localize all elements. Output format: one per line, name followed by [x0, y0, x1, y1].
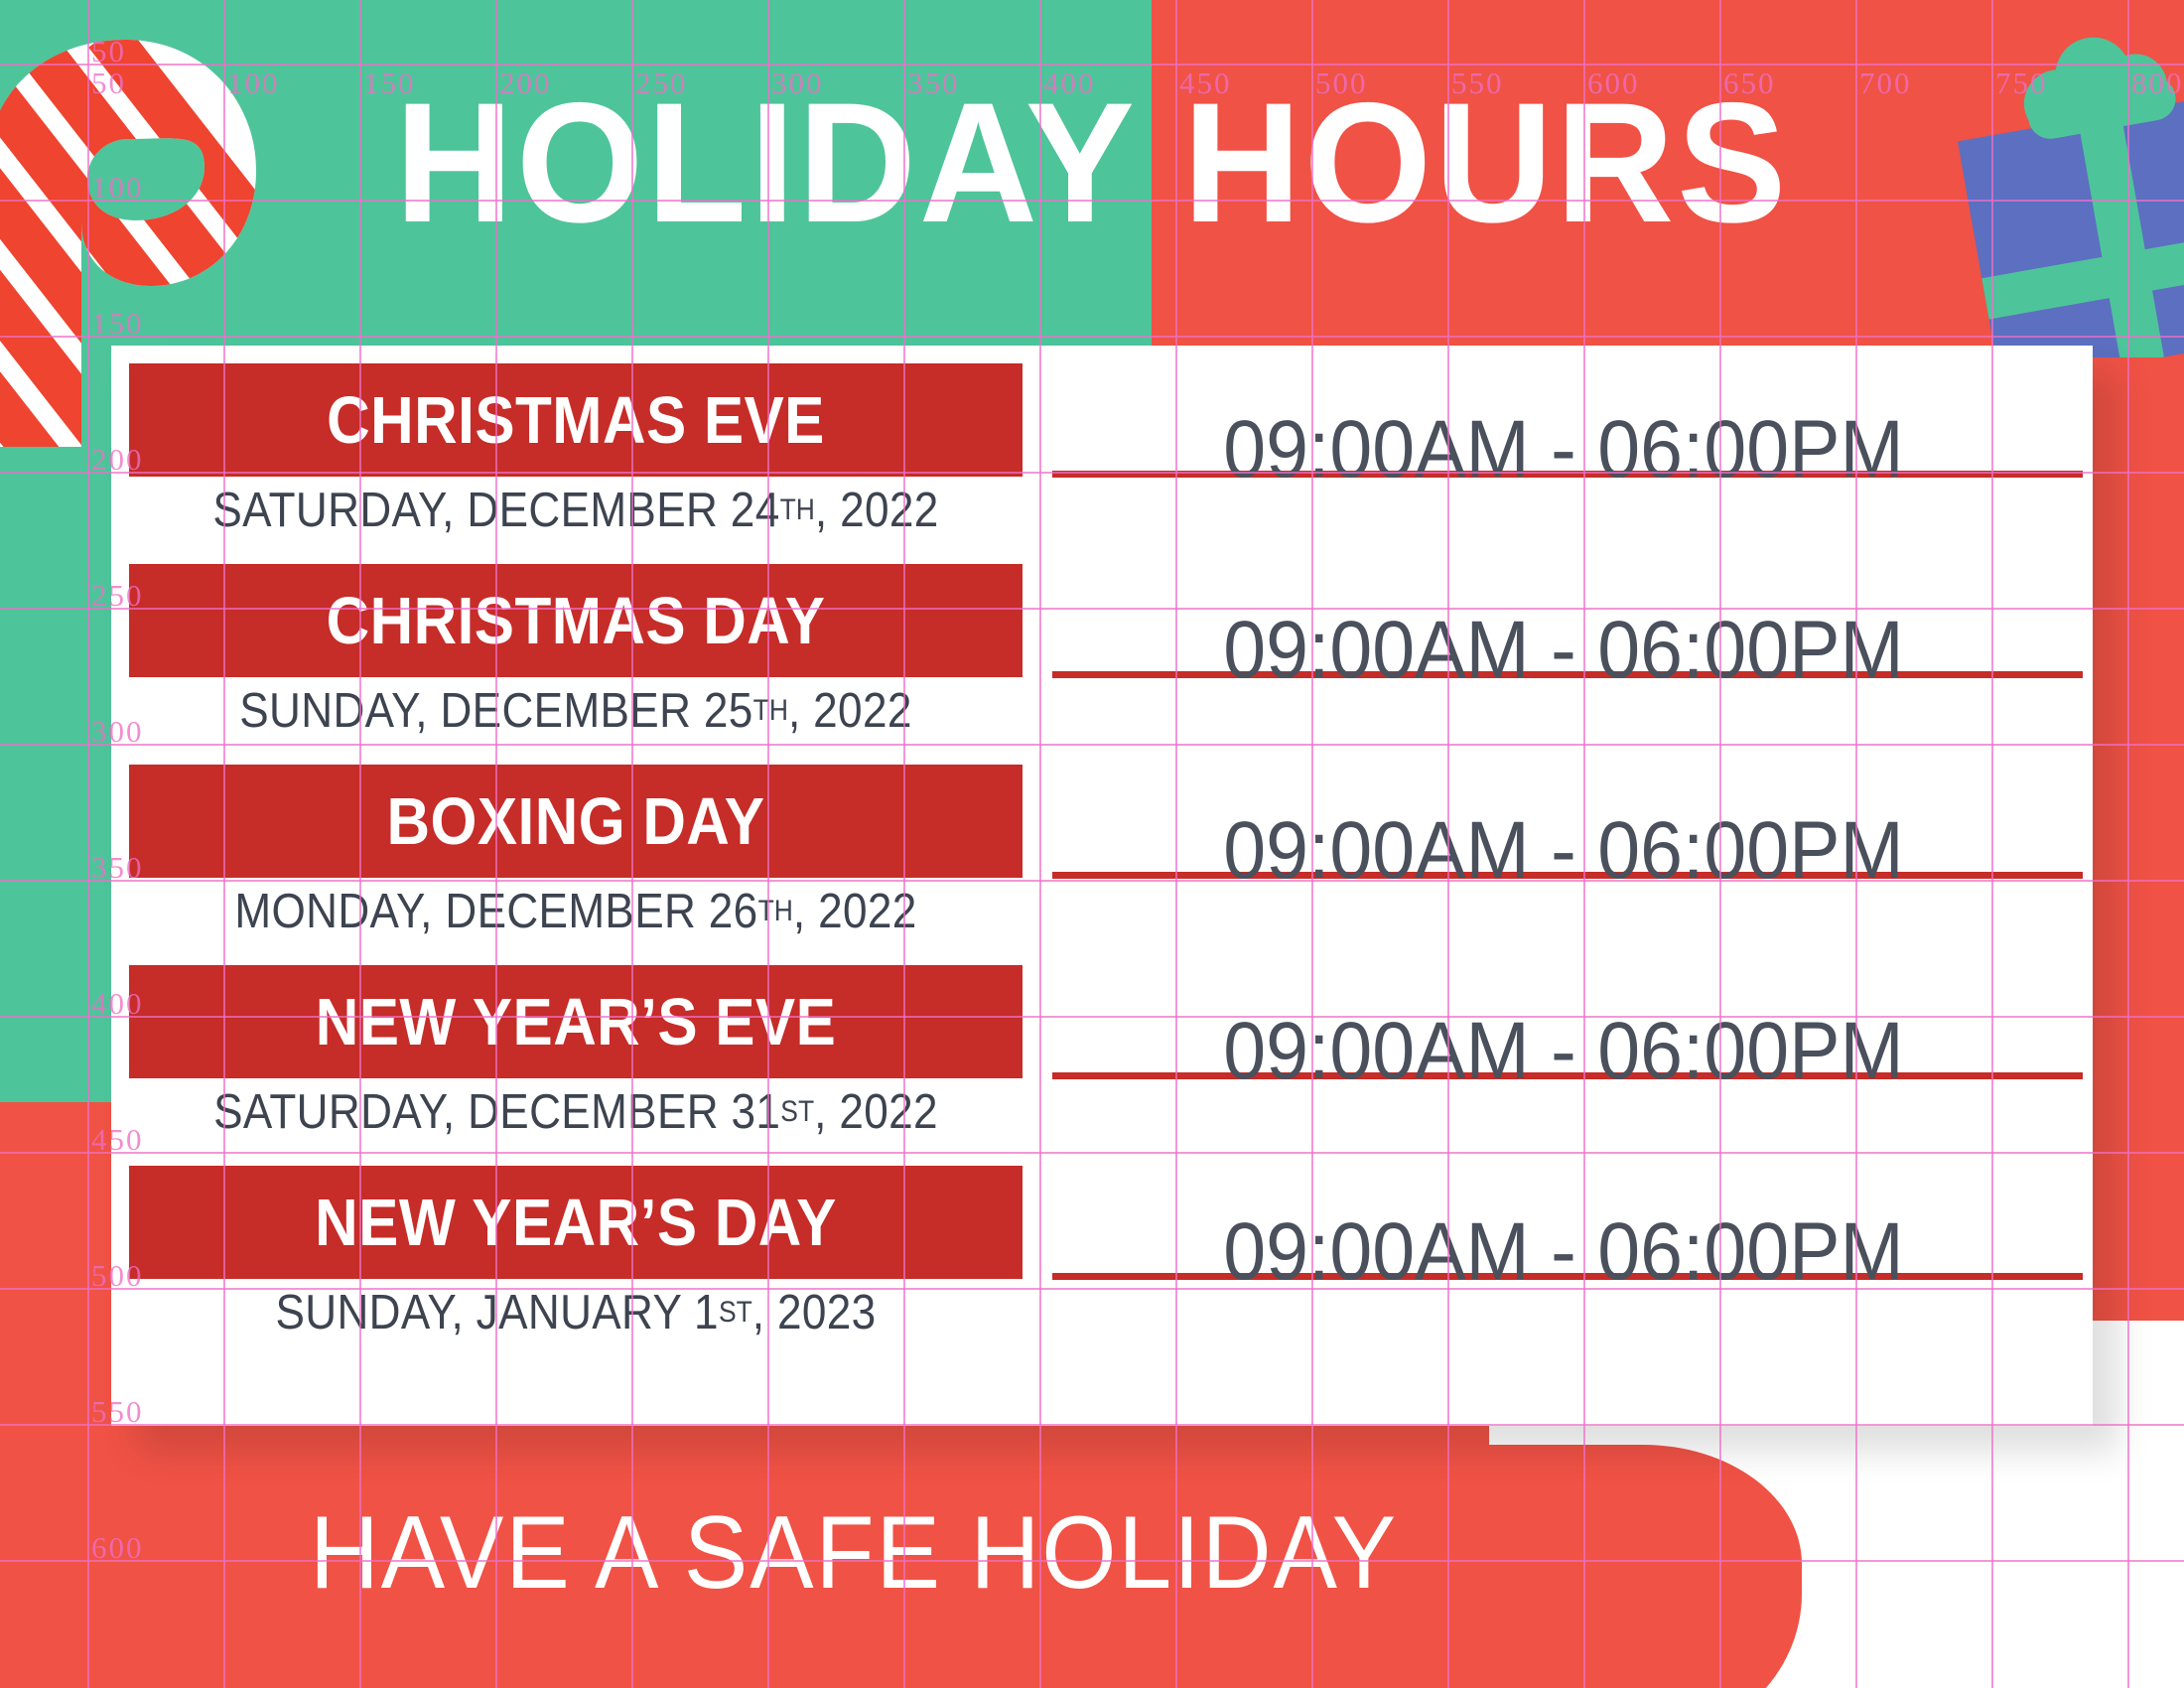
holiday-name: BOXING DAY: [174, 765, 978, 878]
holiday-date: MONDAY, DECEMBER 26TH, 2022: [174, 876, 978, 947]
holiday-name-bar: BOXING DAY: [129, 765, 1023, 878]
date-ordinal: ST: [780, 1095, 814, 1129]
table-row: NEW YEAR’S EVE SATURDAY, DECEMBER 31ST, …: [111, 947, 2093, 1164]
table-row: CHRISTMAS EVE SATURDAY, DECEMBER 24TH, 2…: [111, 346, 2093, 562]
holiday-date: SUNDAY, JANUARY 1ST, 2023: [174, 1277, 978, 1348]
hours-cell: 09:00AM - 06:00PM: [1034, 346, 2093, 562]
date-prefix: SATURDAY, DECEMBER 31: [213, 1084, 780, 1140]
date-prefix: SATURDAY, DECEMBER 24: [212, 483, 779, 538]
date-ordinal: TH: [753, 694, 788, 728]
hours-cell: 09:00AM - 06:00PM: [1034, 1148, 2093, 1364]
holiday-name-bar: NEW YEAR’S EVE: [129, 965, 1023, 1078]
holiday-hours-poster: HOLIDAY HOURS CHRISTMAS EVE SATURDAY, DE…: [0, 0, 2184, 1688]
date-suffix: , 2023: [752, 1285, 877, 1340]
hours-value: 09:00AM - 06:00PM: [1066, 546, 2061, 763]
date-prefix: SUNDAY, JANUARY 1: [275, 1285, 718, 1340]
hours-table: CHRISTMAS EVE SATURDAY, DECEMBER 24TH, 2…: [111, 346, 2093, 1426]
page-title: HOLIDAY HOURS: [44, 77, 2140, 248]
date-suffix: , 2022: [793, 884, 917, 939]
date-prefix: SUNDAY, DECEMBER 25: [239, 683, 752, 739]
holiday-name: NEW YEAR’S EVE: [174, 965, 978, 1078]
date-suffix: , 2022: [815, 483, 939, 538]
date-ordinal: TH: [780, 493, 815, 527]
hours-cell: 09:00AM - 06:00PM: [1034, 747, 2093, 963]
date-prefix: MONDAY, DECEMBER 26: [234, 884, 757, 939]
hours-cell: 09:00AM - 06:00PM: [1034, 947, 2093, 1164]
hours-value: 09:00AM - 06:00PM: [1066, 947, 2061, 1164]
hours-value: 09:00AM - 06:00PM: [1066, 346, 2061, 562]
holiday-name-bar: CHRISTMAS EVE: [129, 363, 1023, 477]
date-suffix: , 2022: [788, 683, 912, 739]
holiday-date: SUNDAY, DECEMBER 25TH, 2022: [174, 675, 978, 747]
date-suffix: , 2022: [814, 1084, 938, 1140]
hours-value: 09:00AM - 06:00PM: [1066, 1148, 2061, 1364]
table-row: NEW YEAR’S DAY SUNDAY, JANUARY 1ST, 2023…: [111, 1148, 2093, 1364]
holiday-name: NEW YEAR’S DAY: [174, 1166, 978, 1279]
date-ordinal: ST: [719, 1296, 752, 1330]
holiday-date: SATURDAY, DECEMBER 24TH, 2022: [174, 475, 978, 546]
holiday-name: CHRISTMAS EVE: [174, 363, 978, 477]
holiday-date: SATURDAY, DECEMBER 31ST, 2022: [174, 1076, 978, 1148]
holiday-name-bar: NEW YEAR’S DAY: [129, 1166, 1023, 1279]
hours-card: CHRISTMAS EVE SATURDAY, DECEMBER 24TH, 2…: [111, 346, 2093, 1426]
table-row: BOXING DAY MONDAY, DECEMBER 26TH, 2022 0…: [111, 747, 2093, 963]
hours-value: 09:00AM - 06:00PM: [1066, 747, 2061, 963]
date-ordinal: TH: [758, 895, 793, 928]
footer-message: HAVE A SAFE HOLIDAY: [60, 1494, 1648, 1613]
hours-cell: 09:00AM - 06:00PM: [1034, 546, 2093, 763]
table-row: CHRISTMAS DAY SUNDAY, DECEMBER 25TH, 202…: [111, 546, 2093, 763]
holiday-name: CHRISTMAS DAY: [174, 564, 978, 677]
holiday-name-bar: CHRISTMAS DAY: [129, 564, 1023, 677]
